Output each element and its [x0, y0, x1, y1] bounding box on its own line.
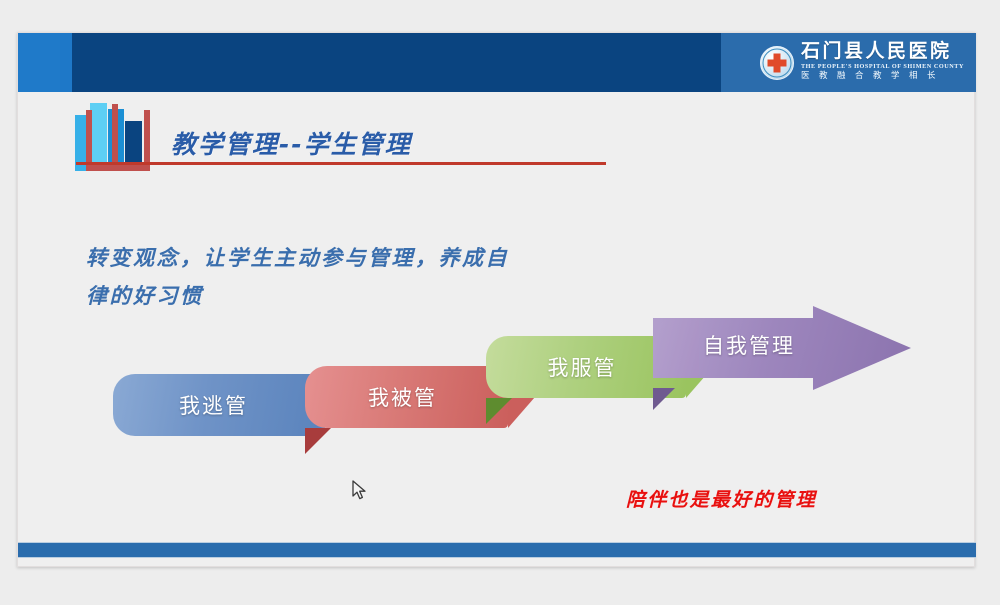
process-step-4-arrow-shape: [653, 306, 911, 390]
hospital-logo-text: 石门县人民医院 THE PEOPLE'S HOSPITAL OF SHIMEN …: [801, 42, 964, 83]
hospital-name-en: THE PEOPLE'S HOSPITAL OF SHIMEN COUNTY: [801, 62, 964, 71]
process-step-2-body: 我被管: [305, 366, 508, 428]
process-step-1-body: 我逃管: [113, 374, 318, 436]
process-step-1-point: [318, 374, 345, 436]
process-step-2-fold: [305, 428, 331, 454]
process-step-3-point: [686, 336, 713, 398]
process-step-1: 我逃管: [113, 374, 318, 436]
arrow-cursor-icon: [352, 480, 368, 502]
process-step-4: 自我管理: [653, 306, 911, 390]
process-step-1-label: 我逃管: [179, 390, 248, 420]
slide-viewer: 石门县人民医院 THE PEOPLE'S HOSPITAL OF SHIMEN …: [0, 0, 1000, 605]
process-step-4-fold: [653, 388, 675, 410]
title-underline-rule: [76, 162, 606, 165]
slide-title: 教学管理--学生管理: [171, 125, 412, 161]
hospital-logo: 石门县人民医院 THE PEOPLE'S HOSPITAL OF SHIMEN …: [760, 38, 964, 87]
closing-caption: 陪伴也是最好的管理: [626, 485, 817, 512]
process-step-3-label: 我服管: [548, 352, 617, 382]
slide-header-band: 石门县人民医院 THE PEOPLE'S HOSPITAL OF SHIMEN …: [18, 33, 976, 92]
process-step-4-label: 自我管理: [703, 330, 795, 360]
hospital-name-cn: 石门县人民医院: [801, 42, 952, 62]
slide-footer-bar: [18, 542, 976, 558]
presentation-slide: 石门县人民医院 THE PEOPLE'S HOSPITAL OF SHIMEN …: [17, 32, 975, 567]
hospital-slogan: 医 教 融 合 教 学 相 长: [801, 71, 939, 83]
decorative-bars-motif: [75, 103, 159, 171]
hospital-cross-emblem-icon: [760, 46, 794, 80]
hospital-logo-plate: 石门县人民医院 THE PEOPLE'S HOSPITAL OF SHIMEN …: [721, 33, 976, 92]
header-accent-block-lighter: [18, 33, 60, 92]
process-step-3-body: 我服管: [486, 336, 686, 398]
process-step-3: 我服管: [486, 336, 686, 398]
lead-paragraph: 转变观念，让学生主动参与管理，养成自律的好习惯: [86, 239, 516, 315]
process-step-2-label: 我被管: [368, 382, 437, 412]
process-step-2: 我被管: [305, 366, 508, 428]
process-step-2-point: [508, 366, 535, 428]
process-step-3-fold: [486, 398, 512, 424]
process-step-4-rounded-cap: [653, 318, 699, 378]
